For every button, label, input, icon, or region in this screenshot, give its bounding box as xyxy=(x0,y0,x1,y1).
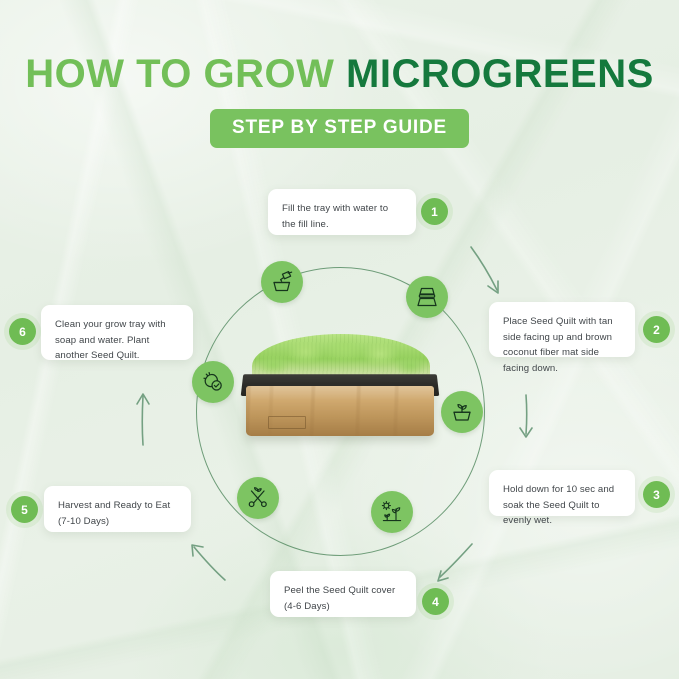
step-badge-5: 5 xyxy=(11,496,38,523)
step-text-3: Hold down for 10 sec and soak the Seed Q… xyxy=(503,482,621,529)
step-badge-2: 2 xyxy=(643,316,670,343)
watering-can-icon xyxy=(269,269,295,295)
step-card-4[interactable]: Peel the Seed Quilt cover (4-6 Days) xyxy=(270,571,416,617)
tray-brand-logo xyxy=(268,416,306,429)
title-dark-part: MICROGREENS xyxy=(346,52,654,96)
step-badge-6: 6 xyxy=(9,318,36,345)
icon-circle-step-3[interactable] xyxy=(441,391,483,433)
icon-circle-step-1[interactable] xyxy=(261,261,303,303)
infographic-canvas: HOW TO GROW MICROGREENS STEP BY STEP GUI… xyxy=(0,0,679,679)
spray-clean-check-icon xyxy=(200,369,226,395)
step-card-6[interactable]: Clean your grow tray with soap and water… xyxy=(41,305,193,360)
subtitle-container: STEP BY STEP GUIDE xyxy=(0,109,679,148)
step-text-1: Fill the tray with water to the fill lin… xyxy=(282,201,402,232)
flow-arrow-6-to-1 xyxy=(150,232,198,280)
step-card-1[interactable]: Fill the tray with water to the fill lin… xyxy=(268,189,416,235)
step-card-2[interactable]: Place Seed Quilt with tan side facing up… xyxy=(489,302,635,357)
flow-arrow-1-to-2 xyxy=(466,242,512,304)
step-badge-4: 4 xyxy=(422,588,449,615)
product-image-grow-tray xyxy=(236,334,444,444)
icon-circle-step-6[interactable] xyxy=(192,361,234,403)
flow-arrow-4-to-5 xyxy=(185,540,233,588)
icon-circle-step-4[interactable] xyxy=(371,491,413,533)
title-light-part: HOW TO GROW xyxy=(25,52,334,96)
step-badge-3: 3 xyxy=(643,481,670,508)
step-text-6: Clean your grow tray with soap and water… xyxy=(55,317,179,364)
step-card-5[interactable]: Harvest and Ready to Eat (7-10 Days) xyxy=(44,486,191,532)
subtitle-pill: STEP BY STEP GUIDE xyxy=(210,109,469,148)
tray-sprout-icon xyxy=(449,399,475,425)
seed-quilt-layers-icon xyxy=(414,284,440,310)
step-card-3[interactable]: Hold down for 10 sec and soak the Seed Q… xyxy=(489,470,635,516)
step-text-4: Peel the Seed Quilt cover (4-6 Days) xyxy=(284,583,402,614)
step-badge-1: 1 xyxy=(421,198,448,225)
flow-arrow-3-to-4 xyxy=(430,540,478,588)
flow-arrow-5-to-6 xyxy=(132,390,154,448)
tray-wooden-base xyxy=(246,386,434,436)
scissors-harvest-icon xyxy=(245,485,271,511)
icon-circle-step-2[interactable] xyxy=(406,276,448,318)
step-text-2: Place Seed Quilt with tan side facing up… xyxy=(503,314,621,376)
icon-circle-step-5[interactable] xyxy=(237,477,279,519)
flow-arrow-2-to-3 xyxy=(515,392,537,444)
step-text-5: Harvest and Ready to Eat (7-10 Days) xyxy=(58,498,177,529)
page-title: HOW TO GROW MICROGREENS xyxy=(0,54,679,94)
sun-plant-growth-icon xyxy=(379,499,405,525)
